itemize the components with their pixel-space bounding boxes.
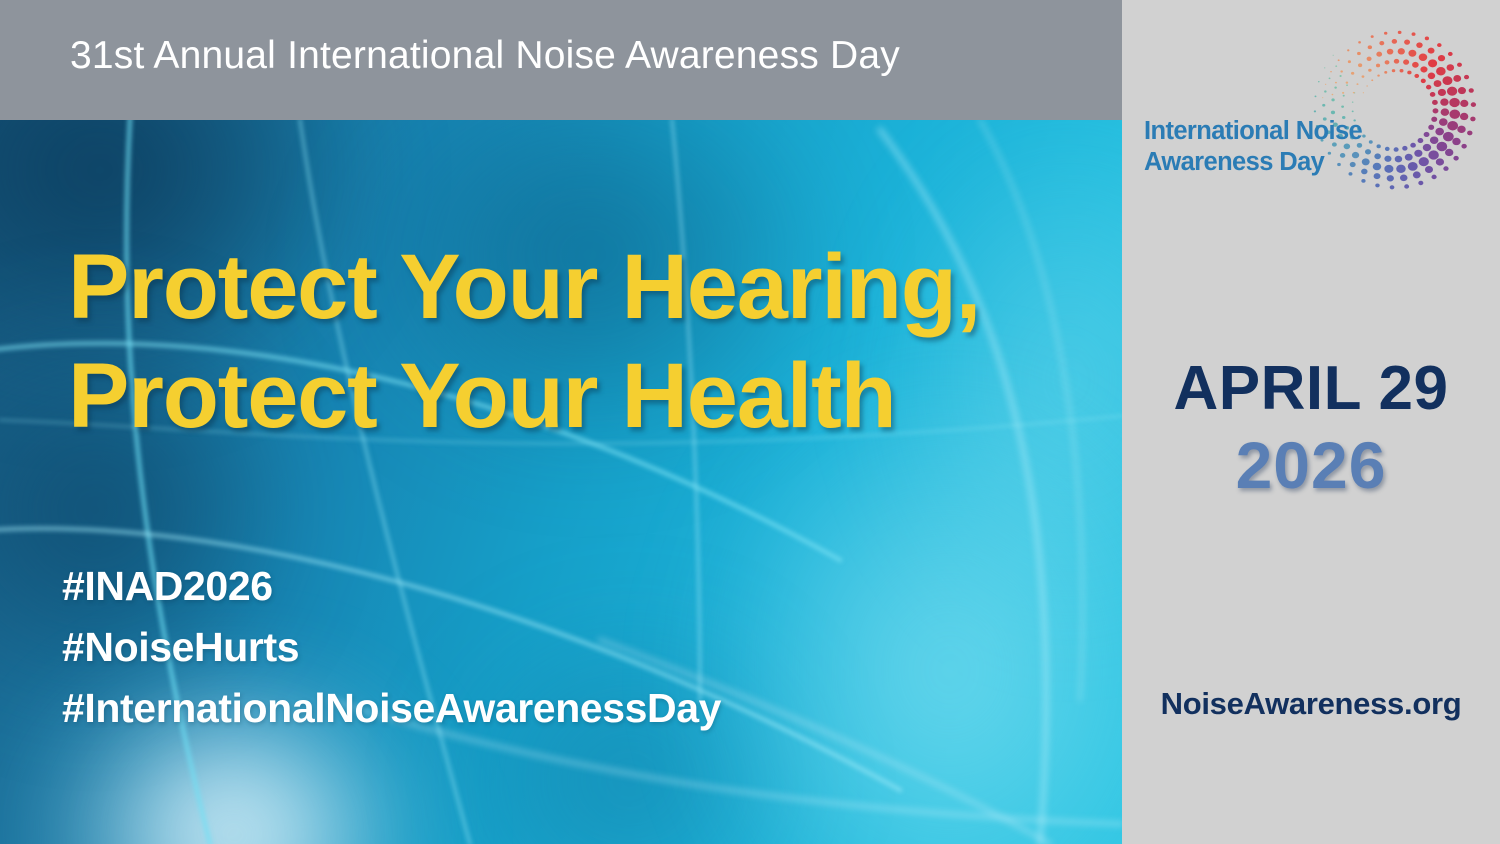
sidebar-panel: International Noise Awareness Day APRIL … <box>1122 0 1500 844</box>
hashtag-noisehurts: #NoiseHurts <box>62 617 721 678</box>
event-date-day: APRIL 29 <box>1122 358 1500 420</box>
spiral-dots-logo-icon <box>1310 22 1482 194</box>
logo-text-line-2: Awareness Day <box>1144 147 1324 178</box>
hashtag-internationalnoiseawarenessday: #InternationalNoiseAwarenessDay <box>62 678 721 739</box>
artwork-panel: Protect Your Hearing, Protect Your Healt… <box>0 0 1122 844</box>
logo-text-line-1: International Noise <box>1144 116 1324 147</box>
event-date-year: 2026 <box>1122 432 1500 498</box>
headline: Protect Your Hearing, Protect Your Healt… <box>68 233 980 450</box>
banner-title: 31st Annual International Noise Awarenes… <box>70 34 900 78</box>
event-date: APRIL 29 2026 <box>1122 358 1500 498</box>
headline-line-1: Protect Your Hearing, <box>68 233 980 342</box>
website-url[interactable]: NoiseAwareness.org <box>1122 686 1500 722</box>
top-banner: 31st Annual International Noise Awarenes… <box>0 0 1122 120</box>
logo: International Noise Awareness Day <box>1132 22 1492 202</box>
headline-line-2: Protect Your Health <box>68 342 980 451</box>
hashtag-list: #INAD2026 #NoiseHurts #InternationalNois… <box>62 556 721 739</box>
logo-text: International Noise Awareness Day <box>1144 116 1324 177</box>
hashtag-inad2026: #INAD2026 <box>62 556 721 617</box>
poster-canvas: Protect Your Hearing, Protect Your Healt… <box>0 0 1500 844</box>
